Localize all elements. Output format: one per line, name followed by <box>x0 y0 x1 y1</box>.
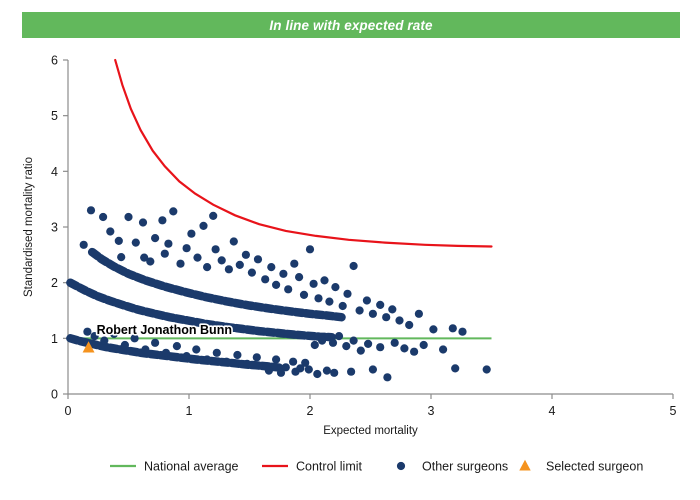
y-tick-label: 2 <box>51 276 58 290</box>
data-point-other-surgeon[interactable] <box>106 227 114 235</box>
data-point-other-surgeon[interactable] <box>451 364 459 372</box>
x-tick-label: 3 <box>428 404 435 418</box>
x-tick-label: 0 <box>65 404 72 418</box>
legend-label: Other surgeons <box>422 460 508 474</box>
data-point-other-surgeon[interactable] <box>383 373 391 381</box>
data-point-other-surgeon[interactable] <box>169 207 177 215</box>
data-point-other-surgeon[interactable] <box>290 260 298 268</box>
data-point-other-surgeon[interactable] <box>225 265 233 273</box>
legend-swatch-dot <box>397 462 405 470</box>
data-point-other-surgeon[interactable] <box>300 291 308 299</box>
data-point-other-surgeon[interactable] <box>342 342 350 350</box>
data-point-other-surgeon[interactable] <box>350 337 358 345</box>
data-point-other-surgeon[interactable] <box>242 251 250 259</box>
data-point-other-surgeon[interactable] <box>305 365 313 373</box>
data-point-other-surgeon[interactable] <box>405 321 413 329</box>
data-point-other-surgeon[interactable] <box>391 339 399 347</box>
data-point-other-surgeon[interactable] <box>330 369 338 377</box>
data-point-other-surgeon[interactable] <box>323 367 331 375</box>
data-point-other-surgeon[interactable] <box>369 365 377 373</box>
data-point-other-surgeon[interactable] <box>121 341 129 349</box>
data-point-other-surgeon[interactable] <box>331 283 339 291</box>
data-point-other-surgeon[interactable] <box>369 310 377 318</box>
data-point-other-surgeon[interactable] <box>141 345 149 353</box>
data-point-other-surgeon[interactable] <box>395 316 403 324</box>
y-tick-label: 1 <box>51 332 58 346</box>
data-point-other-surgeon[interactable] <box>356 306 364 314</box>
data-point-other-surgeon[interactable] <box>222 358 230 366</box>
data-point-other-surgeon[interactable] <box>310 280 318 288</box>
y-axis-title: Standardised mortality ratio <box>23 157 35 297</box>
data-point-other-surgeon[interactable] <box>203 263 211 271</box>
data-point-other-surgeon[interactable] <box>173 342 181 350</box>
data-point-other-surgeon[interactable] <box>146 257 154 265</box>
data-point-other-surgeon[interactable] <box>350 262 358 270</box>
data-point-other-surgeon[interactable] <box>267 263 275 271</box>
data-point-other-surgeon[interactable] <box>415 310 423 318</box>
data-point-other-surgeon[interactable] <box>329 339 337 347</box>
data-point-other-surgeon[interactable] <box>335 332 343 340</box>
legend-label: National average <box>144 460 239 474</box>
data-point-other-surgeon[interactable] <box>311 341 319 349</box>
data-point-other-surgeon[interactable] <box>357 347 365 355</box>
data-point-other-surgeon[interactable] <box>483 365 491 373</box>
data-point-other-surgeon[interactable] <box>289 358 297 366</box>
data-point-other-surgeon[interactable] <box>449 324 457 332</box>
legend-label: Selected surgeon <box>546 460 643 474</box>
data-point-other-surgeon[interactable] <box>151 234 159 242</box>
data-point-other-surgeon[interactable] <box>400 344 408 352</box>
data-point-other-surgeon[interactable] <box>193 254 201 262</box>
data-point-other-surgeon[interactable] <box>183 352 191 360</box>
data-point-other-surgeon[interactable] <box>158 216 166 224</box>
data-point-other-surgeon[interactable] <box>314 294 322 302</box>
data-point-other-surgeon[interactable] <box>230 237 238 245</box>
data-point-other-surgeon[interactable] <box>325 298 333 306</box>
data-point-other-surgeon[interactable] <box>295 273 303 281</box>
data-point-other-surgeon[interactable] <box>161 250 169 258</box>
data-point-other-surgeon[interactable] <box>306 245 314 253</box>
y-tick-label: 4 <box>51 165 58 179</box>
data-point-other-surgeon[interactable] <box>272 355 280 363</box>
control-limit-curve <box>115 60 491 247</box>
data-point-other-surgeon[interactable] <box>183 244 191 252</box>
data-point-other-surgeon[interactable] <box>313 370 321 378</box>
data-point-other-surgeon[interactable] <box>151 339 159 347</box>
data-point-other-surgeon[interactable] <box>132 239 140 247</box>
data-point-other-surgeon[interactable] <box>253 353 261 361</box>
data-point-other-surgeon[interactable] <box>139 218 147 226</box>
data-point-other-surgeon[interactable] <box>218 256 226 264</box>
data-point-other-surgeon[interactable] <box>363 296 371 304</box>
data-point-other-surgeon[interactable] <box>376 343 384 351</box>
data-point-other-surgeon[interactable] <box>388 305 396 313</box>
y-tick-label: 6 <box>51 54 58 68</box>
data-point-other-surgeon[interactable] <box>272 281 280 289</box>
data-point-other-surgeon[interactable] <box>439 345 447 353</box>
data-point-other-surgeon[interactable] <box>164 240 172 248</box>
funnel-plot: 0123456012345Expected mortalityStandardi… <box>0 0 700 500</box>
data-point-other-surgeon[interactable] <box>115 237 123 245</box>
x-axis-title: Expected mortality <box>323 425 418 437</box>
x-tick-label: 1 <box>186 404 193 418</box>
data-point-other-surgeon[interactable] <box>80 241 88 249</box>
data-point-other-surgeon[interactable] <box>429 325 437 333</box>
data-point-other-surgeon[interactable] <box>284 285 292 293</box>
y-tick-label: 0 <box>51 388 58 402</box>
data-point-other-surgeon[interactable] <box>199 222 207 230</box>
data-point-other-surgeon[interactable] <box>162 349 170 357</box>
data-point-other-surgeon[interactable] <box>376 301 384 309</box>
data-point-other-surgeon[interactable] <box>318 337 326 345</box>
data-point-other-surgeon[interactable] <box>458 328 466 336</box>
data-point-other-surgeon[interactable] <box>277 369 285 377</box>
data-point-other-surgeon[interactable] <box>254 255 262 263</box>
y-tick-label: 3 <box>51 221 58 235</box>
x-tick-label: 2 <box>307 404 314 418</box>
data-point-other-surgeon[interactable] <box>248 269 256 277</box>
data-point-other-surgeon[interactable] <box>117 253 125 261</box>
data-point-other-surgeon[interactable] <box>87 206 95 214</box>
data-point-other-surgeon[interactable] <box>347 368 355 376</box>
data-point-other-surgeon[interactable] <box>213 349 221 357</box>
data-point-other-surgeon[interactable] <box>265 367 273 375</box>
legend-swatch-triangle <box>519 460 530 471</box>
chart-canvas: 0123456012345Expected mortalityStandardi… <box>0 0 700 500</box>
x-tick-label: 4 <box>549 404 556 418</box>
legend-label: Control limit <box>296 460 363 474</box>
data-point-other-surgeon[interactable] <box>420 341 428 349</box>
data-point-other-surgeon[interactable] <box>209 212 217 220</box>
data-point-other-surgeon[interactable] <box>124 213 132 221</box>
data-point-other-surgeon[interactable] <box>176 260 184 268</box>
data-point-other-surgeon[interactable] <box>320 276 328 284</box>
data-point-other-surgeon[interactable] <box>192 345 200 353</box>
annotation-label: Robert Jonathon Bunn <box>97 323 232 337</box>
data-point-other-surgeon[interactable] <box>99 213 107 221</box>
data-point-other-surgeon[interactable] <box>187 230 195 238</box>
data-point-other-surgeon[interactable] <box>343 290 351 298</box>
data-point-other-surgeon[interactable] <box>291 368 299 376</box>
data-point-other-surgeon[interactable] <box>410 348 418 356</box>
data-point-other-surgeon[interactable] <box>279 270 287 278</box>
data-point-other-surgeon[interactable] <box>212 245 220 253</box>
data-point-other-surgeon[interactable] <box>382 313 390 321</box>
y-tick-label: 5 <box>51 109 58 123</box>
data-point-other-surgeon[interactable] <box>203 355 211 363</box>
data-point-other-surgeon[interactable] <box>364 340 372 348</box>
x-tick-label: 5 <box>670 404 677 418</box>
data-point-other-surgeon[interactable] <box>236 261 244 269</box>
data-point-other-surgeon[interactable] <box>233 351 241 359</box>
data-point-other-surgeon[interactable] <box>339 302 347 310</box>
data-point-other-surgeon[interactable] <box>243 360 251 368</box>
data-point-other-surgeon[interactable] <box>100 337 108 345</box>
data-point-other-surgeon[interactable] <box>261 275 269 283</box>
data-point-other-surgeon[interactable] <box>83 328 91 336</box>
